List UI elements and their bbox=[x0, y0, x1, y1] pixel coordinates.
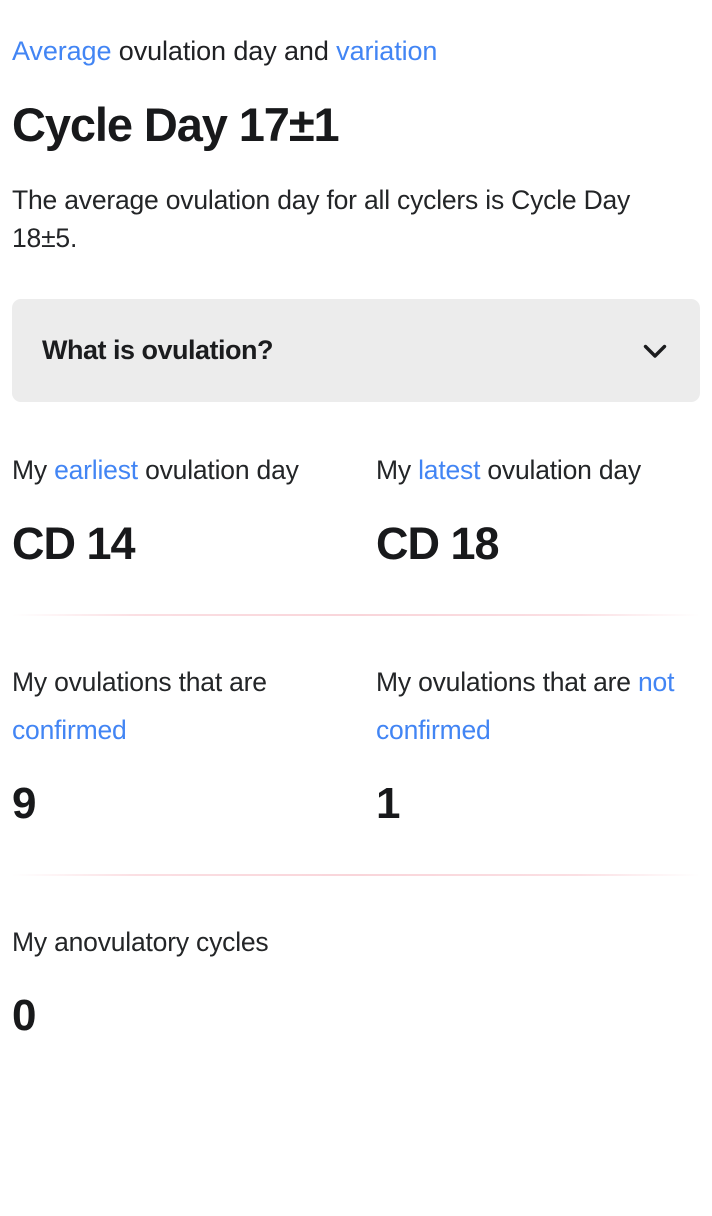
accordion-what-is-ovulation[interactable]: What is ovulation? bbox=[12, 299, 700, 402]
stat-value: 0 bbox=[12, 990, 666, 1042]
stat-label-suffix: ovulation day bbox=[138, 455, 299, 485]
stat-label: My ovulations that are confirmed bbox=[12, 658, 342, 754]
page-title: Cycle Day 17±1 bbox=[12, 97, 700, 153]
variation-link[interactable]: variation bbox=[336, 36, 437, 66]
stat-value: CD 14 bbox=[12, 518, 342, 570]
accordion-title: What is ovulation? bbox=[42, 335, 273, 366]
average-link[interactable]: Average bbox=[12, 36, 111, 66]
stat-earliest-ovulation-day: My earliest ovulation day CD 14 bbox=[12, 446, 376, 570]
ovulation-stats-page: Average ovulation day and variation Cycl… bbox=[0, 0, 712, 1216]
stat-value: 9 bbox=[12, 778, 342, 830]
eyebrow-middle-text: ovulation day and bbox=[111, 36, 336, 66]
confirmed-link[interactable]: confirmed bbox=[12, 715, 127, 745]
stat-label: My ovulations that are not confirmed bbox=[376, 658, 706, 754]
stats-grid: My earliest ovulation day CD 14 My lates… bbox=[12, 446, 700, 1042]
latest-link[interactable]: latest bbox=[418, 455, 480, 485]
stat-label-prefix: My ovulations that are bbox=[376, 667, 638, 697]
stat-latest-ovulation-day: My latest ovulation day CD 18 bbox=[376, 446, 712, 570]
page-description: The average ovulation day for all cycler… bbox=[12, 181, 684, 257]
stat-anovulatory-cycles: My anovulatory cycles 0 bbox=[12, 918, 700, 1042]
stat-value: 1 bbox=[376, 778, 706, 830]
stat-label-prefix: My bbox=[12, 455, 54, 485]
stats-row-ovulation-days: My earliest ovulation day CD 14 My lates… bbox=[12, 446, 700, 570]
earliest-link[interactable]: earliest bbox=[54, 455, 138, 485]
stat-label: My latest ovulation day bbox=[376, 446, 706, 494]
section-divider bbox=[12, 614, 700, 616]
stats-row-confirmation: My ovulations that are confirmed 9 My ov… bbox=[12, 658, 700, 830]
stat-label: My anovulatory cycles bbox=[12, 918, 666, 966]
stat-label-prefix: My ovulations that are bbox=[12, 667, 267, 697]
stats-row-anovulatory: My anovulatory cycles 0 bbox=[12, 918, 700, 1042]
chevron-down-icon[interactable] bbox=[638, 334, 672, 368]
stat-label-suffix: ovulation day bbox=[480, 455, 641, 485]
stat-confirmed-ovulations: My ovulations that are confirmed 9 bbox=[12, 658, 376, 830]
stat-label-prefix: My bbox=[376, 455, 418, 485]
section-divider bbox=[12, 874, 700, 876]
stat-not-confirmed-ovulations: My ovulations that are not confirmed 1 bbox=[376, 658, 712, 830]
stat-value: CD 18 bbox=[376, 518, 706, 570]
page-eyebrow: Average ovulation day and variation bbox=[12, 0, 700, 68]
stat-label: My earliest ovulation day bbox=[12, 446, 342, 494]
